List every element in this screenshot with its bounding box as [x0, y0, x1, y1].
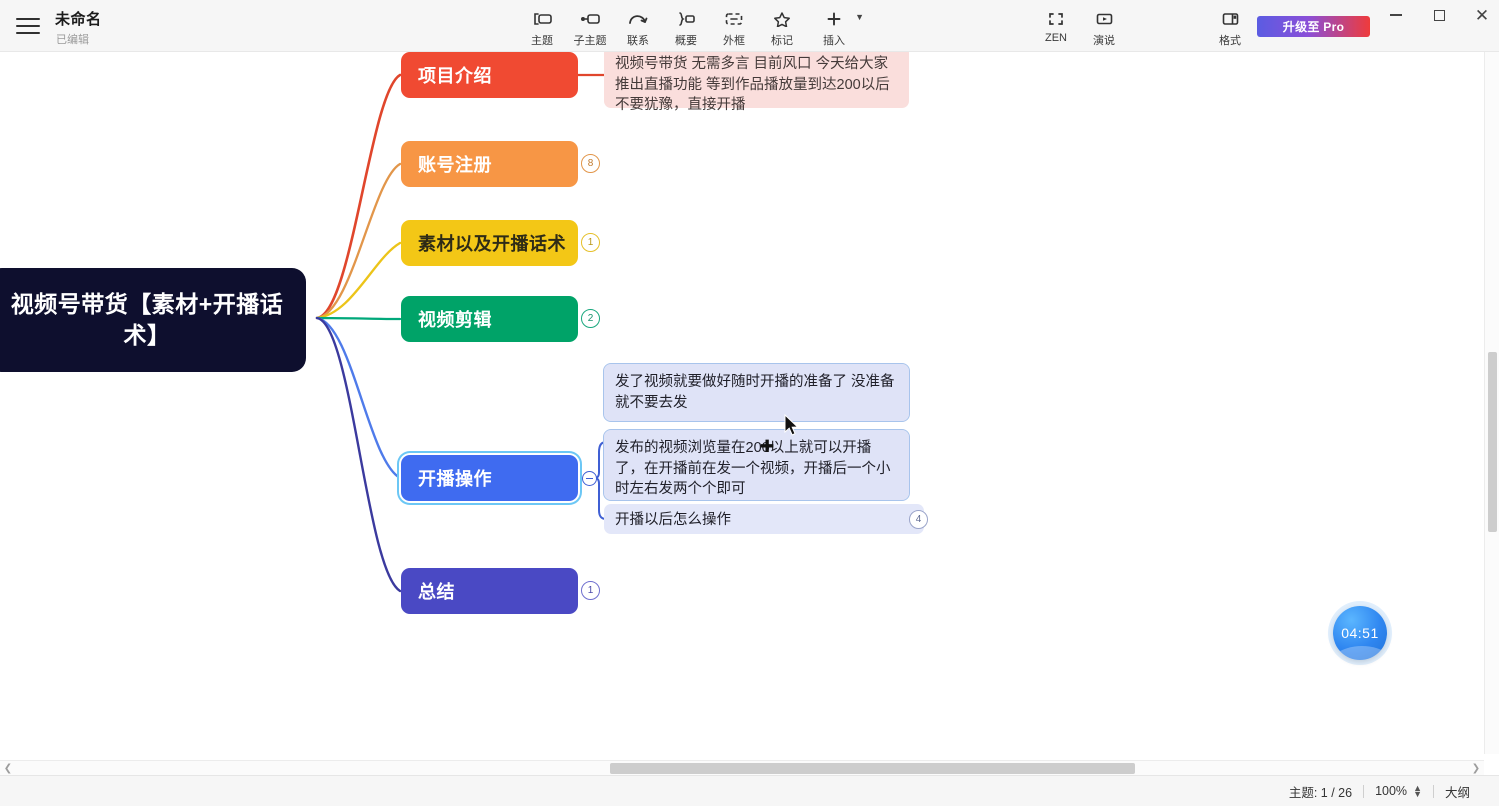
note-project-intro[interactable]: 视频号带货 无需多言 目前风口 今天给大家推出直播功能 等到作品播放量到达200… — [604, 52, 909, 108]
topic-count-status: 主题: 1 / 26 — [1278, 782, 1363, 801]
toolbar-summary-button[interactable]: 概要 — [662, 4, 710, 50]
relationship-arrow-icon — [628, 8, 648, 29]
node-badge-count[interactable]: 1 — [581, 233, 600, 252]
document-save-status: 已编辑 — [56, 31, 89, 47]
toolbar-view-tools: ZEN 演说 — [1032, 4, 1128, 48]
toolbar-insert-button[interactable]: ▼ 插入 — [806, 4, 862, 50]
node-label: 开播操作 — [418, 465, 492, 491]
toolbar-format-group: 格式 — [1206, 4, 1254, 48]
toolbar-summary-label: 概要 — [675, 32, 697, 48]
toolbar-insert-label: 插入 — [823, 32, 845, 48]
toolbar-relationship-label: 联系 — [627, 32, 649, 48]
subtopic-icon — [580, 8, 601, 29]
toolbar-boundary-button[interactable]: 外框 — [710, 4, 758, 50]
upgrade-to-pro-button[interactable]: 升级至 Pro — [1257, 16, 1370, 37]
note-broadcast-views-rule[interactable]: 发布的视频浏览量在200以上就可以开播了，在开播前在发一个视频，开播后一个小时左… — [604, 430, 909, 500]
zoom-level-label: 100% — [1375, 784, 1407, 798]
note-text: 发了视频就要做好随时开播的准备了 没准备就不要去发 — [615, 374, 895, 411]
toolbar-zen-label: ZEN — [1045, 32, 1067, 44]
outline-view-button[interactable]: 大纲 — [1434, 782, 1481, 801]
format-panel-icon — [1221, 8, 1240, 29]
toolbar-present-label: 演说 — [1093, 32, 1115, 48]
timer-value: 04:51 — [1341, 625, 1379, 641]
floating-timer-widget[interactable]: 04:51 — [1333, 606, 1387, 660]
toolbar-subtopic-button[interactable]: 子主题 — [566, 4, 614, 50]
window-maximize-button[interactable] — [1418, 0, 1460, 30]
document-title: 未命名 — [55, 8, 102, 29]
mindmap-node-broadcast-operation[interactable]: 开播操作 — [401, 455, 578, 501]
vertical-scrollbar[interactable] — [1484, 52, 1499, 754]
toolbar-subtopic-label: 子主题 — [574, 32, 607, 48]
vertical-scrollbar-thumb[interactable] — [1488, 352, 1497, 532]
node-badge-count[interactable]: 8 — [581, 154, 600, 173]
toolbar-main-tools: 主题 子主题 联系 — [518, 4, 862, 50]
timer-wave-decoration — [1333, 646, 1387, 660]
mindmap-root-node[interactable]: 视频号带货【素材+开播话术】 — [0, 268, 306, 372]
node-label: 项目介绍 — [418, 62, 492, 88]
chevron-down-icon[interactable]: ▼ — [855, 12, 864, 22]
note-badge-count[interactable]: 4 — [909, 510, 928, 529]
mindmap-canvas[interactable]: 视频号带货【素材+开播话术】 项目介绍 视频号带货 无需多言 目前风口 今天给大… — [0, 52, 1484, 754]
star-marker-icon — [773, 8, 791, 29]
node-label: 视频剪辑 — [418, 306, 492, 332]
toolbar-present-button[interactable]: 演说 — [1080, 4, 1128, 48]
horizontal-scrollbar-thumb[interactable] — [610, 763, 1135, 774]
zoom-control[interactable]: 100% ▲▼ — [1364, 784, 1433, 798]
zen-fullscreen-icon — [1047, 8, 1065, 29]
window-close-button[interactable]: ✕ — [1461, 0, 1499, 30]
toolbar-marker-label: 标记 — [771, 32, 793, 48]
status-bar: 主题: 1 / 26 100% ▲▼ 大纲 — [0, 775, 1499, 806]
horizontal-scrollbar[interactable]: ❮ ❯ — [0, 760, 1484, 775]
toolbar-topic-label: 主题 — [531, 32, 553, 48]
app-window: 未命名 已编辑 主题 — [0, 0, 1499, 806]
toolbar-boundary-label: 外框 — [723, 32, 745, 48]
mindmap-node-video-editing[interactable]: 视频剪辑 — [401, 296, 578, 342]
boundary-dashed-icon — [724, 8, 744, 29]
toolbar-marker-button[interactable]: 标记 — [758, 4, 806, 50]
node-label: 账号注册 — [418, 151, 492, 177]
scroll-right-arrow-icon[interactable]: ❯ — [1470, 761, 1482, 776]
window-minimize-button[interactable] — [1375, 0, 1417, 30]
mindmap-node-materials-script[interactable]: 素材以及开播话术 — [401, 220, 578, 266]
mindmap-node-project-intro[interactable]: 项目介绍 — [401, 52, 578, 98]
mindmap-node-account-registration[interactable]: 账号注册 — [401, 141, 578, 187]
top-toolbar: 未命名 已编辑 主题 — [0, 0, 1499, 52]
note-text: 视频号带货 无需多言 目前风口 今天给大家推出直播功能 等到作品播放量到达200… — [615, 56, 890, 113]
plus-insert-icon — [826, 8, 842, 29]
mindmap-node-summary[interactable]: 总结 — [401, 568, 578, 614]
summary-bracket-icon — [676, 8, 696, 29]
scroll-left-arrow-icon[interactable]: ❮ — [2, 761, 14, 776]
node-label: 总结 — [418, 578, 455, 604]
node-label: 素材以及开播话术 — [418, 230, 566, 256]
toolbar-zen-button[interactable]: ZEN — [1032, 4, 1080, 48]
note-after-broadcast[interactable]: 开播以后怎么操作 — [604, 504, 924, 534]
node-badge-count[interactable]: 2 — [581, 309, 600, 328]
toolbar-topic-button[interactable]: 主题 — [518, 4, 566, 50]
presentation-play-icon — [1095, 8, 1114, 29]
toolbar-format-button[interactable]: 格式 — [1206, 4, 1254, 48]
toolbar-format-label: 格式 — [1219, 32, 1241, 48]
node-badge-count[interactable]: 1 — [581, 581, 600, 600]
note-text: 发布的视频浏览量在200以上就可以开播了，在开播前在发一个视频，开播后一个小时左… — [615, 440, 891, 497]
note-broadcast-preparation[interactable]: 发了视频就要做好随时开播的准备了 没准备就不要去发 — [604, 364, 909, 421]
note-text: 开播以后怎么操作 — [615, 512, 731, 528]
hamburger-menu-icon[interactable] — [16, 14, 40, 38]
root-node-label: 视频号带货【素材+开播话术】 — [2, 289, 292, 351]
zoom-stepper-icon[interactable]: ▲▼ — [1413, 785, 1422, 798]
toolbar-relationship-button[interactable]: 联系 — [614, 4, 662, 50]
collapse-minus-icon[interactable] — [582, 471, 597, 486]
topic-icon — [533, 8, 552, 29]
